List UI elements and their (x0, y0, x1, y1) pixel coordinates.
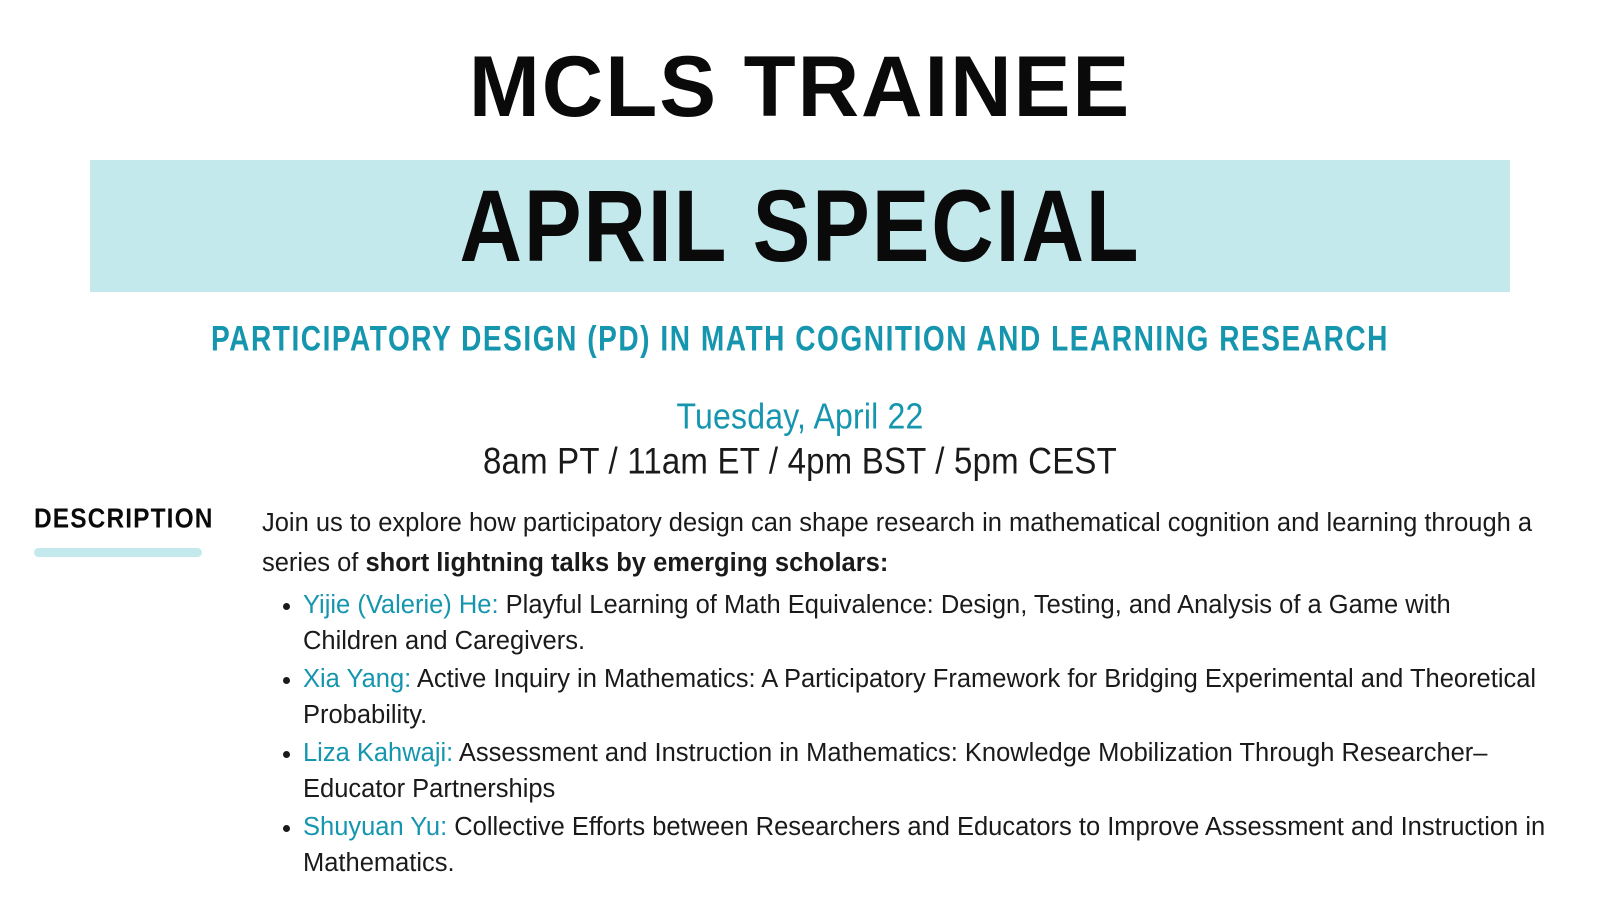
description-label-group: DESCRIPTION (34, 504, 244, 557)
talk-speaker: Liza Kahwaji: (303, 739, 453, 767)
flyer-canvas: MCLS TRAINEE APRIL SPECIAL PARTICIPATORY… (0, 0, 1600, 900)
description-body: Join us to explore how participatory des… (262, 503, 1552, 884)
page-title: MCLS TRAINEE (8, 44, 1592, 130)
description-intro-emphasis: short lightning talks by emerging schola… (365, 549, 888, 577)
april-special-banner: APRIL SPECIAL (90, 160, 1510, 292)
talk-speaker: Shuyuan Yu: (303, 813, 447, 841)
list-item: Yijie (Valerie) He: Playful Learning of … (262, 588, 1552, 659)
talk-title: Active Inquiry in Mathematics: A Partici… (303, 665, 1536, 729)
list-item: Xia Yang: Active Inquiry in Mathematics:… (262, 662, 1552, 733)
talk-list: Yijie (Valerie) He: Playful Learning of … (262, 588, 1552, 881)
talk-speaker: Yijie (Valerie) He: (303, 591, 499, 619)
list-item: Liza Kahwaji: Assessment and Instruction… (262, 736, 1552, 807)
description-label: DESCRIPTION (34, 504, 244, 535)
event-times: 8am PT / 11am ET / 4pm BST / 5pm CEST (0, 440, 1600, 483)
event-date: Tuesday, April 22 (0, 396, 1600, 437)
talk-title: Assessment and Instruction in Mathematic… (303, 739, 1487, 803)
list-item: Shuyuan Yu: Collective Efforts between R… (262, 810, 1552, 881)
event-subtitle: PARTICIPATORY DESIGN (PD) IN MATH COGNIT… (12, 320, 1588, 360)
description-intro: Join us to explore how participatory des… (262, 503, 1552, 583)
description-underline-rule (34, 548, 202, 557)
talk-speaker: Xia Yang: (303, 665, 411, 693)
talk-title: Collective Efforts between Researchers a… (303, 813, 1545, 877)
banner-title: APRIL SPECIAL (140, 153, 1461, 298)
